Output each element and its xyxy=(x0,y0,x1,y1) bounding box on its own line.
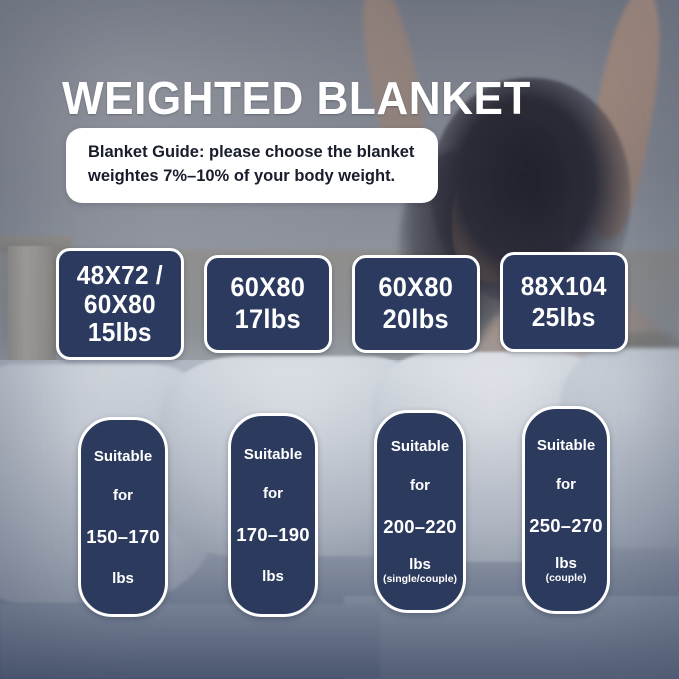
suitability-weight-range: 250–270 xyxy=(529,515,602,537)
suitability-note: (couple) xyxy=(546,572,587,584)
suitability-card[interactable]: Suitable for 250–270 lbs (couple) xyxy=(522,406,610,614)
size-card[interactable]: 60X80 20lbs xyxy=(352,255,480,353)
blanket-guide-callout: Blanket Guide: please choose the blanket… xyxy=(66,128,438,203)
suitability-unit: lbs xyxy=(112,570,134,587)
weighted-blanket-infographic: WEIGHTED BLANKET Blanket Guide: please c… xyxy=(0,0,679,679)
suitability-weight-range: 150–170 xyxy=(86,526,159,548)
suitability-for: for xyxy=(113,487,133,504)
page-title: WEIGHTED BLANKET xyxy=(62,75,531,121)
suitability-weight-range: 200–220 xyxy=(383,516,456,538)
suitability-card[interactable]: Suitable for 150–170 lbs xyxy=(78,417,168,617)
suitability-for: for xyxy=(556,476,576,493)
size-card-line3: 15lbs xyxy=(77,318,163,347)
suitability-unit: lbs xyxy=(262,568,284,585)
size-card-line2: 25lbs xyxy=(521,302,607,333)
size-card-line1: 60X80 xyxy=(379,272,454,304)
suitability-label: Suitable xyxy=(391,438,449,455)
size-card-line1: 60X80 xyxy=(231,272,306,304)
size-card[interactable]: 88X104 25lbs xyxy=(500,252,628,352)
suitability-card[interactable]: Suitable for 200–220 lbs (single/couple) xyxy=(374,410,466,613)
suitability-label: Suitable xyxy=(244,446,302,463)
suitability-unit: lbs xyxy=(555,555,577,572)
suitability-note: (single/couple) xyxy=(383,573,457,585)
size-card[interactable]: 60X80 17lbs xyxy=(204,255,332,353)
size-card-line2: 60X80 xyxy=(77,290,163,319)
suitability-card[interactable]: Suitable for 170–190 lbs xyxy=(228,413,318,617)
suitability-weight-range: 170–190 xyxy=(236,524,309,546)
size-card-line1: 88X104 xyxy=(521,271,607,302)
size-card-line1: 48X72 / xyxy=(77,261,163,290)
suitability-unit: lbs xyxy=(409,556,431,573)
size-card-line2: 20lbs xyxy=(379,304,454,336)
suitability-label: Suitable xyxy=(537,437,595,454)
suitability-label: Suitable xyxy=(94,448,152,465)
suitability-for: for xyxy=(410,477,430,494)
size-card-line2: 17lbs xyxy=(231,304,306,336)
size-card[interactable]: 48X72 / 60X80 15lbs xyxy=(56,248,184,360)
suitability-for: for xyxy=(263,485,283,502)
